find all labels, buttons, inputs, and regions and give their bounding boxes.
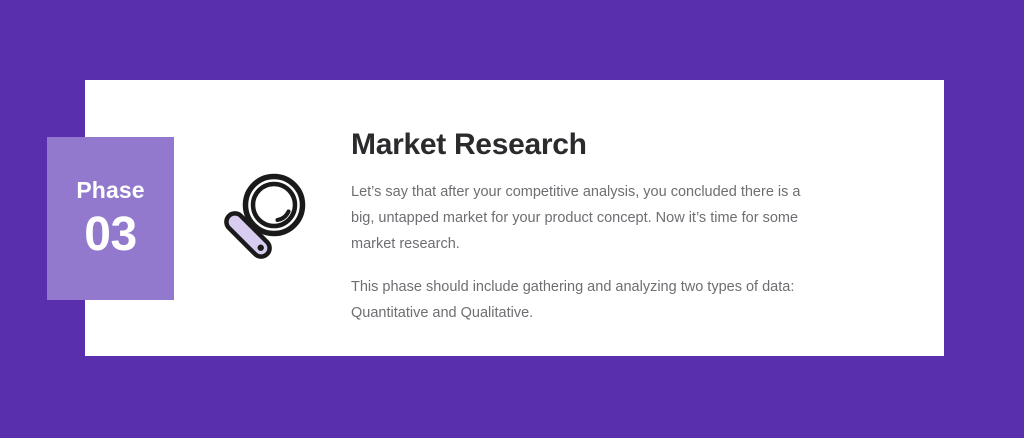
phase-badge-label: Phase [76, 179, 144, 202]
magnifier-inner-ring [253, 184, 295, 226]
body-paragraph-2: This phase should include gathering and … [351, 274, 821, 326]
body-paragraph-1: Let’s say that after your competitive an… [351, 179, 821, 257]
text-column: Market Research Let’s say that after you… [351, 128, 851, 326]
page-title: Market Research [351, 128, 851, 163]
phase-badge-number: 03 [84, 211, 136, 259]
magnifying-glass-icon [208, 163, 320, 275]
phase-badge: Phase 03 [47, 137, 174, 300]
slide-canvas: Phase 03 Market Research Let’s say that … [0, 0, 1024, 438]
